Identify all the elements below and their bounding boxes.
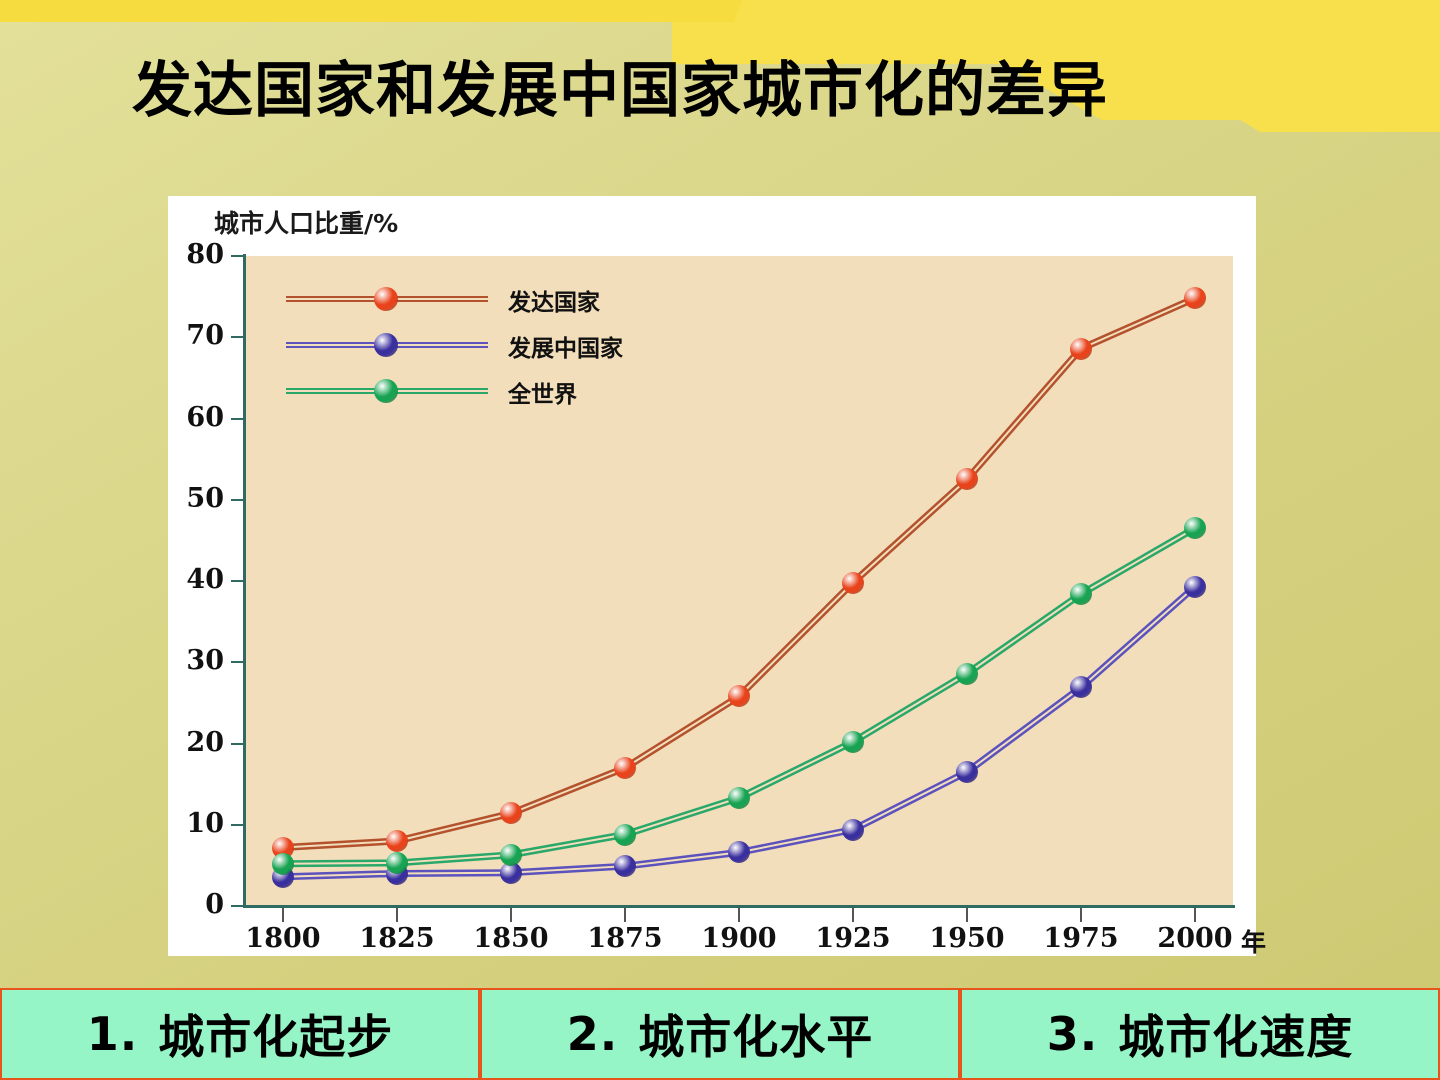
x-tick-mark — [282, 908, 284, 922]
topic-label: 城市化水平 — [638, 1001, 873, 1067]
x-tick-label: 1825 — [337, 923, 457, 954]
x-tick-mark — [852, 908, 854, 922]
data-point-marker — [956, 663, 978, 685]
legend-label: 发达国家 — [508, 283, 600, 317]
legend-dot-swatch — [374, 287, 398, 311]
legend-item-1[interactable]: 发达国家 — [286, 276, 706, 322]
legend-dot-swatch — [374, 379, 398, 403]
chart-card: 城市人口比重/% 01020304050607080 1800182518501… — [168, 196, 1256, 956]
data-point-marker — [386, 852, 408, 874]
y-tick-mark — [231, 336, 244, 338]
data-point-marker — [842, 731, 864, 753]
x-axis-unit-label: 年 — [1241, 923, 1266, 959]
y-tick-mark — [231, 255, 244, 257]
x-tick-mark — [396, 908, 398, 922]
x-tick-mark — [1194, 908, 1196, 922]
topic-box-1[interactable]: 1.城市化起步 — [0, 988, 480, 1080]
y-tick-mark — [231, 824, 244, 826]
y-tick-mark — [231, 661, 244, 663]
x-tick-label: 1850 — [451, 923, 571, 954]
y-tick-mark — [231, 418, 244, 420]
data-point-marker — [614, 757, 636, 779]
y-tick-label: 20 — [168, 727, 224, 758]
data-point-marker — [272, 853, 294, 875]
y-tick-label: 0 — [168, 889, 224, 920]
data-point-marker — [1070, 583, 1092, 605]
y-tick-label: 30 — [168, 645, 224, 676]
x-tick-mark — [624, 908, 626, 922]
data-point-marker — [1070, 338, 1092, 360]
y-tick-label: 70 — [168, 320, 224, 351]
data-point-marker — [956, 761, 978, 783]
topic-label: 城市化速度 — [1118, 1001, 1353, 1067]
topic-number: 1. — [87, 1007, 138, 1061]
y-tick-mark — [231, 580, 244, 582]
data-point-marker — [728, 787, 750, 809]
data-point-marker — [614, 824, 636, 846]
chart-legend: 发达国家发展中国家全世界 — [286, 276, 706, 414]
y-tick-mark — [231, 743, 244, 745]
data-point-marker — [500, 844, 522, 866]
x-tick-label: 1950 — [907, 923, 1027, 954]
legend-dot-swatch — [374, 333, 398, 357]
data-point-marker — [386, 830, 408, 852]
y-tick-label: 50 — [168, 483, 224, 514]
topic-box-2[interactable]: 2.城市化水平 — [480, 988, 960, 1080]
y-axis-title: 城市人口比重/% — [214, 204, 398, 240]
topic-number: 3. — [1047, 1007, 1098, 1061]
x-tick-label: 1800 — [223, 923, 343, 954]
y-tick-mark — [231, 499, 244, 501]
topic-box-3[interactable]: 3.城市化速度 — [960, 988, 1440, 1080]
bottom-topic-bar: 1.城市化起步2.城市化水平3.城市化速度 — [0, 988, 1440, 1080]
data-point-marker — [842, 819, 864, 841]
data-point-marker — [1184, 576, 1206, 598]
y-tick-label: 80 — [168, 239, 224, 270]
x-tick-mark — [966, 908, 968, 922]
x-tick-mark — [510, 908, 512, 922]
x-tick-label: 1900 — [679, 923, 799, 954]
topic-number: 2. — [567, 1007, 618, 1061]
y-tick-label: 40 — [168, 564, 224, 595]
x-tick-mark — [738, 908, 740, 922]
legend-label: 发展中国家 — [508, 329, 623, 363]
x-tick-label: 2000 — [1135, 923, 1255, 954]
page-title: 发达国家和发展中国家城市化的差异 — [0, 56, 1240, 126]
topic-label: 城市化起步 — [158, 1001, 393, 1067]
y-tick-label: 60 — [168, 402, 224, 433]
y-tick-label: 10 — [168, 808, 224, 839]
data-point-marker — [842, 572, 864, 594]
legend-item-3[interactable]: 全世界 — [286, 368, 706, 414]
x-tick-label: 1925 — [793, 923, 913, 954]
slide-canvas: 发达国家和发展中国家城市化的差异 城市人口比重/% 01020304050607… — [0, 0, 1440, 1080]
x-tick-mark — [1080, 908, 1082, 922]
legend-item-2[interactable]: 发展中国家 — [286, 322, 706, 368]
x-tick-label: 1875 — [565, 923, 685, 954]
legend-label: 全世界 — [508, 375, 577, 409]
y-tick-mark — [231, 905, 244, 907]
x-tick-label: 1975 — [1021, 923, 1141, 954]
